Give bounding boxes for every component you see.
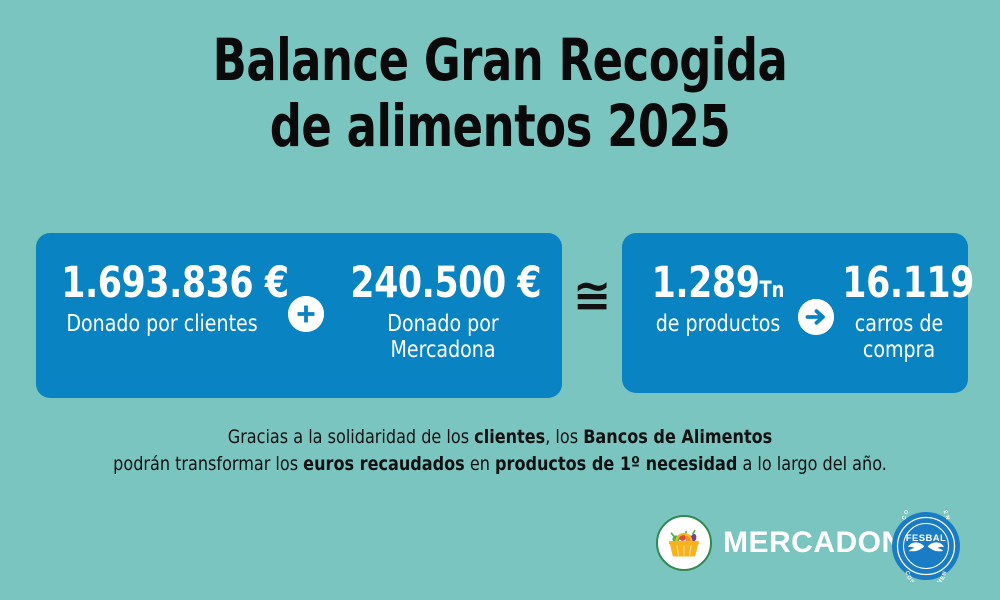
caption-line-2: podrán transformar los euros recaudados … — [30, 451, 970, 478]
stat-productos-number: 1.289 — [652, 258, 760, 308]
stat-carros-label: carros de compra — [841, 312, 957, 364]
shopping-basket-icon — [656, 515, 712, 571]
logo-row: MERCADONA BANCOS DE ALIMENTOS BANCOS DE … — [640, 505, 980, 590]
stat-carros: 16.119 carros de compra — [836, 262, 962, 364]
stat-donado-clientes-value: 1.693.836 € — [61, 262, 263, 305]
title-line-2: de alimentos 2025 — [70, 94, 930, 160]
caption-l1-bold1: clientes — [474, 426, 545, 448]
stat-productos: 1.289Tn de productos — [636, 262, 800, 338]
caption-l2-text2: en — [465, 453, 495, 475]
caption-l1-text2: , los — [545, 426, 583, 448]
infographic-canvas: Balance Gran Recogida de alimentos 2025 … — [0, 0, 1000, 600]
caption-l2-text1: podrán transformar los — [113, 453, 303, 475]
stat-donado-mercadona-label: Donado por Mercadona — [348, 312, 538, 364]
caption-l2-bold2: productos de 1º necesidad — [495, 453, 737, 475]
title-line-1: Balance Gran Recogida — [70, 28, 930, 94]
arrow-right-icon — [798, 299, 834, 335]
approximately-equal-icon: ≅ — [566, 272, 618, 318]
stat-donado-clientes: 1.693.836 € Donado por clientes — [50, 262, 274, 338]
caption-l1-bold2: Bancos de Alimentos — [583, 426, 772, 448]
stat-donado-mercadona: 240.500 € Donado por Mercadona — [340, 262, 546, 364]
page-title: Balance Gran Recogida de alimentos 2025 — [0, 28, 1000, 159]
stat-donado-clientes-label: Donado por clientes — [59, 312, 265, 338]
plus-icon — [288, 296, 324, 332]
svg-text:FESBAL: FESBAL — [906, 533, 946, 544]
caption-line-1: Gracias a la solidaridad de los clientes… — [30, 424, 970, 451]
mercadona-logo: MERCADONA — [656, 515, 926, 571]
caption-l2-bold1: euros recaudados — [303, 453, 465, 475]
stat-productos-unit: Tn — [760, 278, 785, 303]
caption-l2-text3: a lo largo del año. — [737, 453, 886, 475]
caption-l1-text1: Gracias a la solidaridad de los — [228, 426, 474, 448]
stat-productos-value: 1.289Tn — [644, 262, 792, 305]
fesbal-logo: BANCOS DE ALIMENTOS BANCOS DE ALIMENTOS … — [890, 510, 962, 582]
caption: Gracias a la solidaridad de los clientes… — [0, 424, 1000, 478]
stat-carros-value: 16.119 — [842, 262, 955, 305]
stat-productos-label: de productos — [643, 312, 794, 338]
stat-donado-mercadona-value: 240.500 € — [350, 262, 535, 305]
